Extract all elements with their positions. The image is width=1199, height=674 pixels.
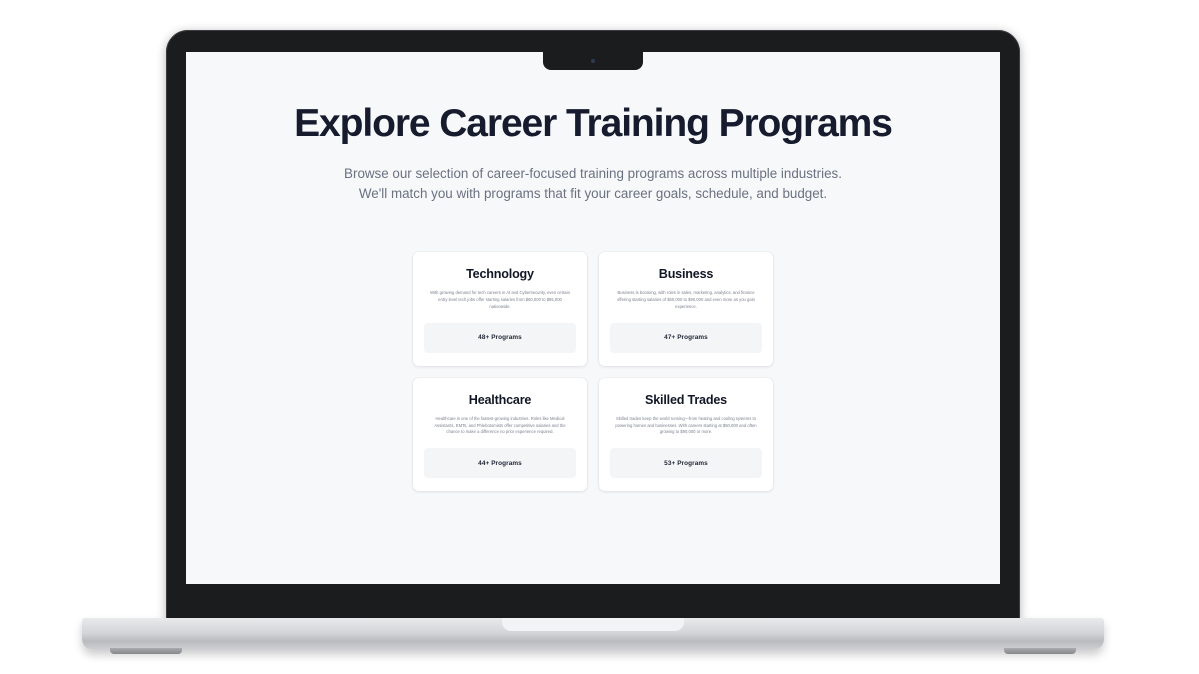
category-card-grid: Technology With growing demand for tech …: [413, 252, 773, 491]
category-card-technology[interactable]: Technology With growing demand for tech …: [413, 252, 587, 365]
program-count-badge[interactable]: 44+ Programs: [424, 448, 576, 478]
card-description: Healthcare is one of the fastest-growing…: [424, 416, 576, 436]
laptop-base-notch: [502, 618, 684, 631]
laptop-mockup: Explore Career Training Programs Browse …: [166, 30, 1020, 622]
card-title: Business: [610, 267, 762, 281]
screenshot-canvas: Explore Career Training Programs Browse …: [0, 0, 1199, 674]
card-title: Healthcare: [424, 393, 576, 407]
card-description: With growing demand for tech careers in …: [424, 290, 576, 310]
program-count-badge[interactable]: 47+ Programs: [610, 323, 762, 353]
card-description: Business is booming, with roles in sales…: [610, 290, 762, 310]
laptop-base: [82, 618, 1104, 650]
card-title: Technology: [424, 267, 576, 281]
laptop-foot-left: [110, 648, 182, 654]
category-card-skilled-trades[interactable]: Skilled Trades Skilled trades keep the w…: [599, 378, 773, 491]
laptop-screen: Explore Career Training Programs Browse …: [186, 52, 1000, 584]
program-count-badge[interactable]: 48+ Programs: [424, 323, 576, 353]
laptop-foot-right: [1004, 648, 1076, 654]
card-title: Skilled Trades: [610, 393, 762, 407]
webcam-notch: [543, 52, 643, 70]
category-card-business[interactable]: Business Business is booming, with roles…: [599, 252, 773, 365]
webpage-content: Explore Career Training Programs Browse …: [186, 52, 1000, 584]
category-card-healthcare[interactable]: Healthcare Healthcare is one of the fast…: [413, 378, 587, 491]
page-subtitle: Browse our selection of career-focused t…: [343, 164, 843, 205]
program-count-badge[interactable]: 53+ Programs: [610, 448, 762, 478]
camera-icon: [591, 59, 595, 63]
card-description: Skilled trades keep the world running—fr…: [610, 416, 762, 436]
page-title: Explore Career Training Programs: [226, 102, 960, 146]
